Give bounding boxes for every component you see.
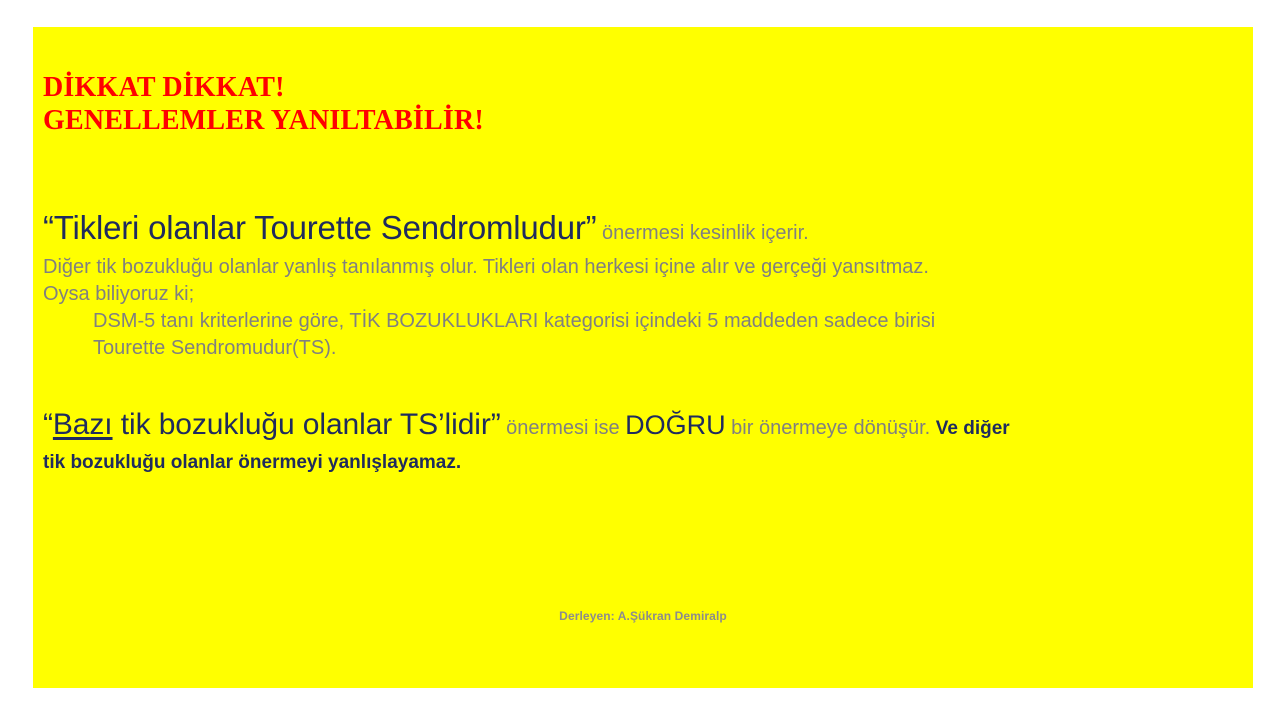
- proposition-two-headline: “Bazı tik bozukluğu olanlar TS’lidir” ön…: [43, 405, 1248, 450]
- title-line-1: DİKKAT DİKKAT!: [43, 71, 1223, 104]
- slide-title: DİKKAT DİKKAT! GENELLEMLER YANILTABİLİR!: [43, 71, 1223, 137]
- proposition-two-block: “Bazı tik bozukluğu olanlar TS’lidir” ön…: [43, 405, 1248, 476]
- proposition-one-block: “Tikleri olanlar Tourette Sendromludur” …: [43, 209, 1243, 362]
- proposition-one-headline: “Tikleri olanlar Tourette Sendromludur” …: [43, 209, 1243, 254]
- proposition-two-bold-tail: Ve diğer: [936, 418, 1010, 439]
- proposition-one-body-line-2: Oysa biliyoruz ki;: [43, 281, 1243, 308]
- proposition-two-quote-underlined: Bazı: [53, 408, 113, 441]
- proposition-one-body-line-1: Diğer tik bozukluğu olanlar yanlış tanıl…: [43, 254, 1243, 281]
- proposition-two-wrapped-line: tik bozukluğu olanlar önermeyi yanlışlay…: [43, 450, 1248, 476]
- proposition-one-quote: “Tikleri olanlar Tourette Sendromludur”: [43, 209, 596, 246]
- proposition-two-quote-open: “: [43, 408, 53, 441]
- proposition-two-gray-1: önermesi ise: [501, 417, 626, 439]
- slide-surface: DİKKAT DİKKAT! GENELLEMLER YANILTABİLİR!…: [33, 27, 1253, 688]
- proposition-two-quote-rest: tik bozukluğu olanlar TS’lidir”: [113, 408, 501, 441]
- slide-canvas: DİKKAT DİKKAT! GENELLEMLER YANILTABİLİR!…: [0, 0, 1280, 720]
- title-line-2: GENELLEMLER YANILTABİLİR!: [43, 104, 1223, 137]
- proposition-two-quote: “Bazı tik bozukluğu olanlar TS’lidir”: [43, 408, 501, 441]
- proposition-two-gray-2: bir önermeye dönüşür.: [726, 417, 936, 439]
- proposition-one-quote-tail: önermesi kesinlik içerir.: [596, 222, 808, 244]
- proposition-one-indented-line-1: DSM-5 tanı kriterlerine göre, TİK BOZUKL…: [43, 308, 1243, 335]
- proposition-one-indented-line-2: Tourette Sendromudur(TS).: [43, 335, 1243, 362]
- footer-credit: Derleyen: A.Şükran Demiralp: [33, 609, 1253, 623]
- proposition-two-emphasis: DOĞRU: [625, 410, 726, 440]
